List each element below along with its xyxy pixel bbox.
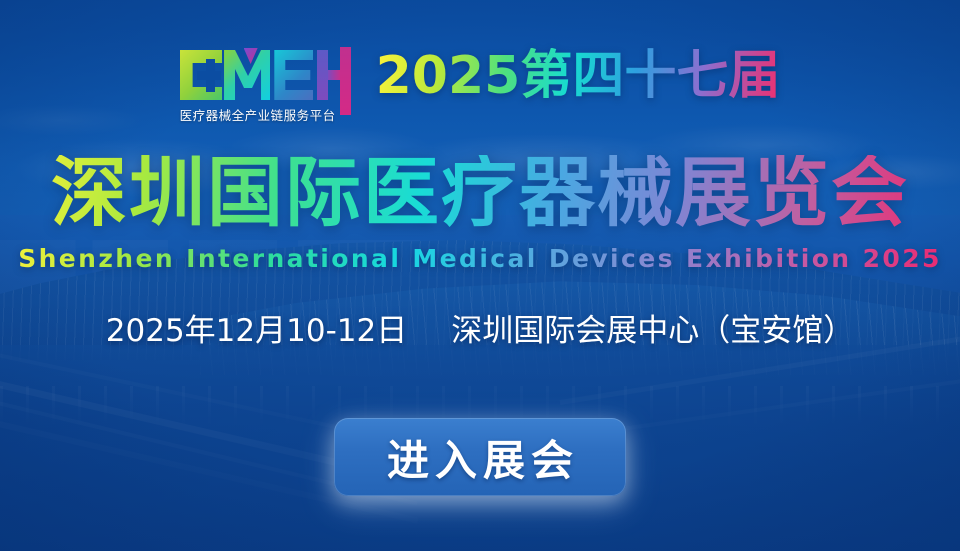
page-title-en: Shenzhen International Medical Devices E… [0, 244, 960, 273]
logo-letter-m [224, 50, 270, 100]
cta-container: 进入展会 [0, 418, 960, 496]
logo-subtitle: 医疗器械全产业链服务平台 [180, 105, 350, 124]
poster-content: 医疗器械全产业链服务平台 2025第四十七届 深圳国际医疗器械展览会 Shenz… [0, 0, 960, 551]
cmeh-logo: 医疗器械全产业链服务平台 [180, 48, 350, 124]
event-info-line: 2025年12月10-12日 深圳国际会展中心（宝安馆） [0, 305, 960, 350]
event-date: 2025年12月10-12日 [106, 305, 407, 350]
logo-letter-h [317, 50, 350, 100]
page-title-cn: 深圳国际医疗器械展览会 [0, 155, 960, 231]
logo-wordmark [180, 48, 350, 100]
logo-letter-e [274, 50, 313, 100]
poster-stage: 医疗器械全产业链服务平台 2025第四十七届 深圳国际医疗器械展览会 Shenz… [0, 0, 960, 551]
enter-exhibition-button[interactable]: 进入展会 [334, 418, 626, 496]
event-venue: 深圳国际会展中心（宝安馆） [451, 305, 854, 350]
logo-letter-c-medical-cross-icon [180, 50, 222, 100]
header-row: 医疗器械全产业链服务平台 2025第四十七届 [0, 48, 960, 124]
edition-title: 2025第四十七届 [376, 48, 781, 102]
